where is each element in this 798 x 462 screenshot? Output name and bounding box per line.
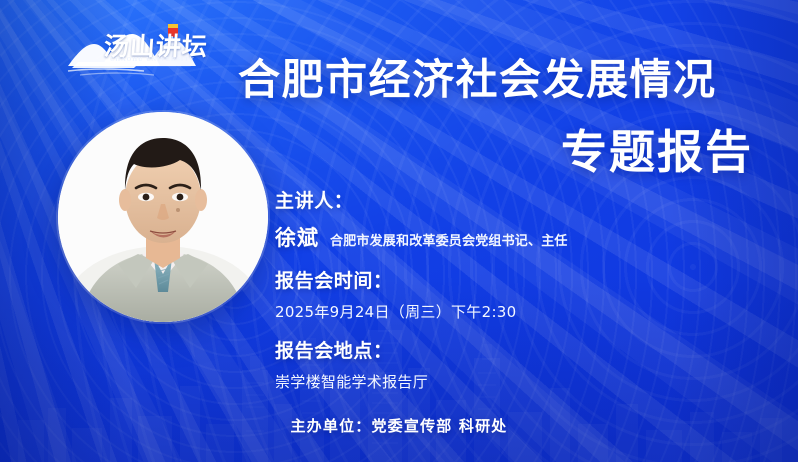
page-title-line-2: 专题报告: [561, 128, 753, 177]
poster-canvas: 汤山讲坛 CHAOHU UNIVERSITY: [0, 0, 798, 462]
time-value: 2025年9月24日（周三）下午2:30: [275, 301, 695, 322]
organizer-footer: 主办单位：党委宣传部 科研处: [0, 415, 798, 436]
speaker-label: 主讲人：: [275, 186, 695, 213]
place-value: 崇学楼智能学术报告厅: [275, 371, 695, 392]
time-label: 报告会时间：: [275, 266, 695, 293]
logo-english-name: CHAOHU UNIVERSITY: [110, 57, 195, 63]
speaker-name: 徐斌: [275, 222, 319, 252]
place-label: 报告会地点：: [275, 336, 695, 363]
speaker-portrait-avatar: [58, 112, 268, 322]
spacer: [275, 252, 695, 266]
page-title-line-1: 合肥市经济社会发展情况: [238, 58, 717, 103]
speaker-role: 合肥市发展和改革委员会党组书记、主任: [330, 230, 568, 249]
spacer: [275, 322, 695, 336]
event-details-block: 主讲人： 徐斌 合肥市发展和改革委员会党组书记、主任 报告会时间： 2025年9…: [275, 186, 695, 392]
speaker-row: 徐斌 合肥市发展和改革委员会党组书记、主任: [275, 222, 695, 252]
